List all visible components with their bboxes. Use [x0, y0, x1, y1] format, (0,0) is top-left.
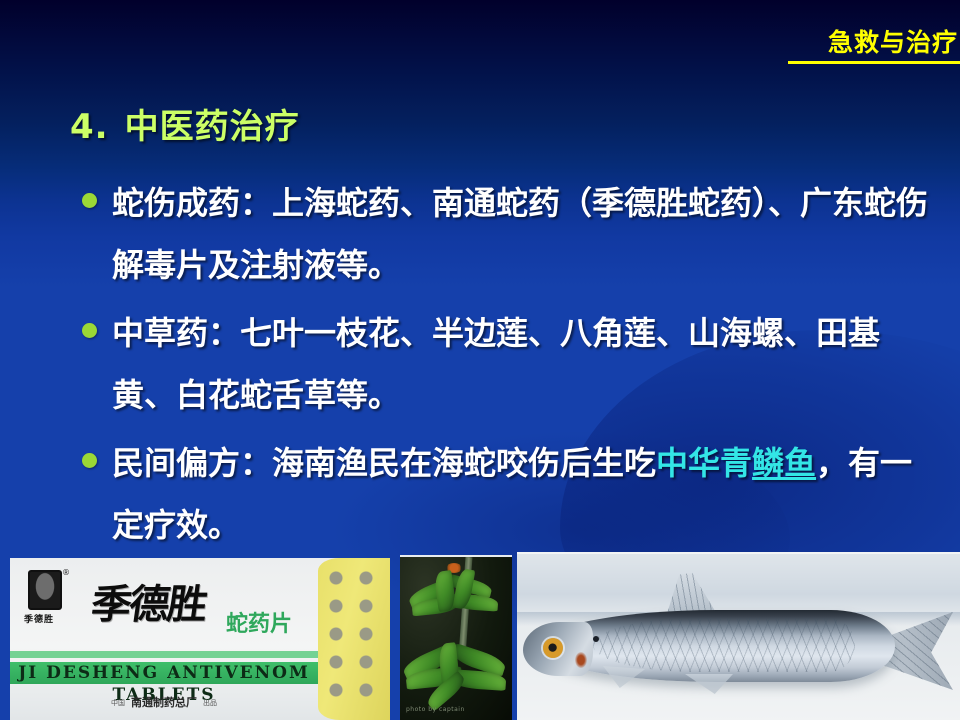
list-item: 中草药：七叶一枝花、半边莲、八角莲、山海螺、田基黄、白花蛇舌草等。 [74, 302, 934, 426]
medicine-logo-subtext: 季德胜 [24, 612, 54, 625]
registered-trademark-icon: ® [62, 568, 70, 577]
fish-eye [543, 638, 563, 658]
bullet-text: 蛇伤成药：上海蛇药、南通蛇药（季德胜蛇药）、广东蛇伤解毒片及注射液等。 [112, 172, 934, 296]
image-fish [517, 552, 960, 720]
bullet-text: 民间偏方：海南渔民在海蛇咬伤后生吃中华青鳞鱼，有一定疗效。 [112, 432, 934, 556]
medicine-product-name-cn: 蛇药片 [226, 606, 292, 638]
page-title: 4.中医药治疗 [70, 99, 300, 148]
page-title-number: 4. [70, 107, 109, 147]
bullet-text: 中草药：七叶一枝花、半边莲、八角莲、山海螺、田基黄、白花蛇舌草等。 [112, 302, 934, 426]
image-medicine-box: ® 季德胜 季德胜 蛇药片 JI DESHENG ANTIVENOM TABLE… [10, 558, 390, 720]
plant-photo-credit: photo by captain [406, 706, 465, 713]
medicine-maker-name: 南通制药总厂 [131, 696, 197, 709]
fish-pelvic-fin [685, 674, 733, 694]
bullet-segment: 蛇伤成药：上海蛇药、南通蛇药（季德胜蛇药）、广东蛇伤解毒片及注射液等。 [112, 184, 928, 284]
bullet-dot-icon [82, 453, 97, 468]
header-title: 急救与治疗 [828, 30, 958, 55]
fish-gill-mark [575, 652, 587, 668]
bullet-segment: 中草药：七叶一枝花、半边莲、八角莲、山海螺、田基黄、白花蛇舌草等。 [112, 314, 880, 414]
fish-body-spot [593, 636, 599, 642]
medicine-blister-pack [318, 558, 390, 720]
image-herb-plant: photo by captain [400, 555, 512, 720]
page-title-text: 中医药治疗 [125, 107, 300, 147]
medicine-brand-name-cn: 季德胜 [88, 572, 210, 630]
medicine-brand-portrait-icon [28, 570, 62, 610]
bullet-dot-icon [82, 193, 97, 208]
bullet-dot-icon [82, 323, 97, 338]
medicine-maker-suffix: 出品 [203, 699, 217, 707]
header-underline [788, 61, 960, 64]
fish-scales [593, 618, 855, 672]
hyperlink-fish-part2[interactable]: 鳞鱼 [752, 444, 816, 482]
medicine-maker-prefix: 中国 [111, 699, 125, 707]
bullet-segment: 民间偏方：海南渔民在海蛇咬伤后生吃 [112, 444, 656, 482]
list-item: 蛇伤成药：上海蛇药、南通蛇药（季德胜蛇药）、广东蛇伤解毒片及注射液等。 [74, 172, 934, 296]
slide-canvas: 急救与治疗 4.中医药治疗 蛇伤成药：上海蛇药、南通蛇药（季德胜蛇药）、广东蛇伤… [0, 0, 960, 720]
bullet-list: 蛇伤成药：上海蛇药、南通蛇药（季德胜蛇药）、广东蛇伤解毒片及注射液等。 中草药：… [74, 172, 934, 562]
hyperlink-fish-part1[interactable]: 中华青 [656, 444, 752, 482]
list-item: 民间偏方：海南渔民在海蛇咬伤后生吃中华青鳞鱼，有一定疗效。 [74, 432, 934, 556]
medicine-manufacturer: 中国南通制药总厂出品 [10, 694, 318, 710]
